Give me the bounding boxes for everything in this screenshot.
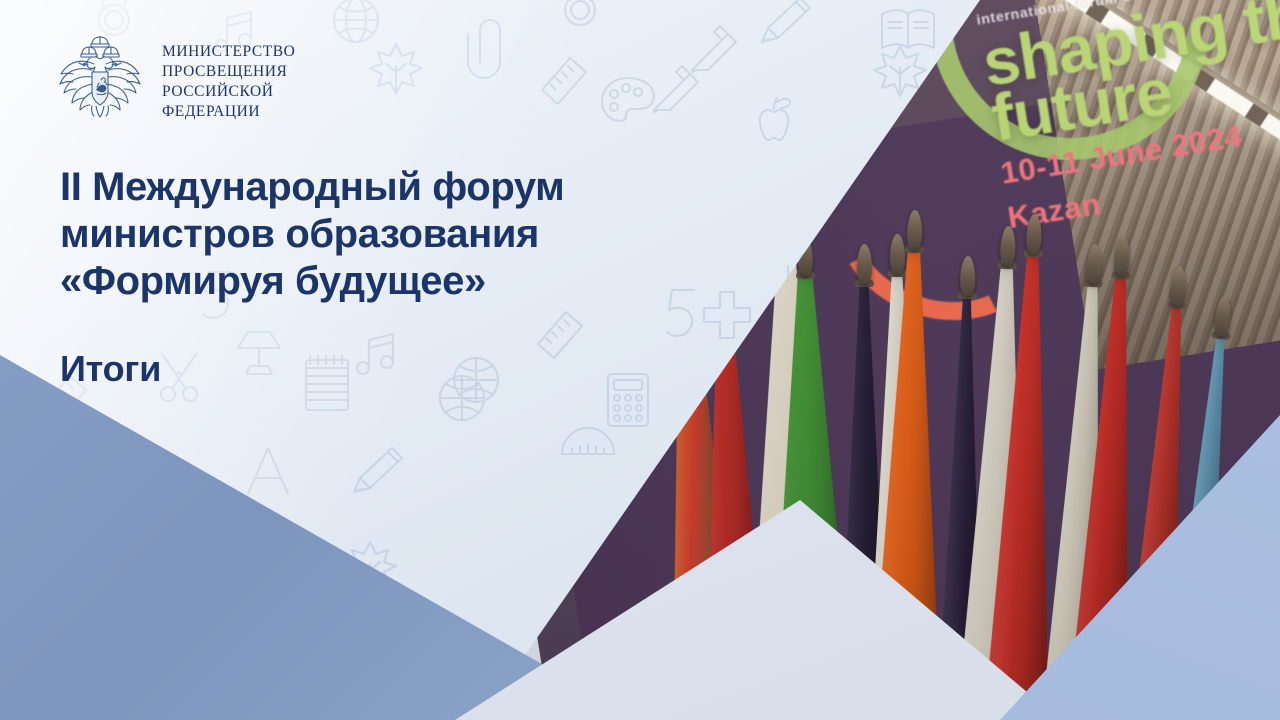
presentation-slide: international forum of ministers of educ…	[0, 0, 1280, 720]
page-title: II Международный форум министров образов…	[60, 164, 760, 304]
ministry-logo-lockup: МИНИСТЕРСТВО ПРОСВЕЩЕНИЯ РОССИЙСКОЙ ФЕДЕ…	[52, 36, 295, 128]
ministry-name-text: МИНИСТЕРСТВО ПРОСВЕЩЕНИЯ РОССИЙСКОЙ ФЕДЕ…	[162, 42, 295, 123]
flag-pole-finial	[1026, 214, 1042, 254]
flag-pole-finial	[1114, 236, 1131, 277]
russian-coat-of-arms-icon	[52, 36, 148, 128]
flag-pole-finial	[1214, 296, 1232, 337]
page-subtitle: Итоги	[60, 348, 161, 390]
flag-pole-finial	[907, 210, 923, 250]
flag-pole-finial	[1170, 266, 1188, 307]
